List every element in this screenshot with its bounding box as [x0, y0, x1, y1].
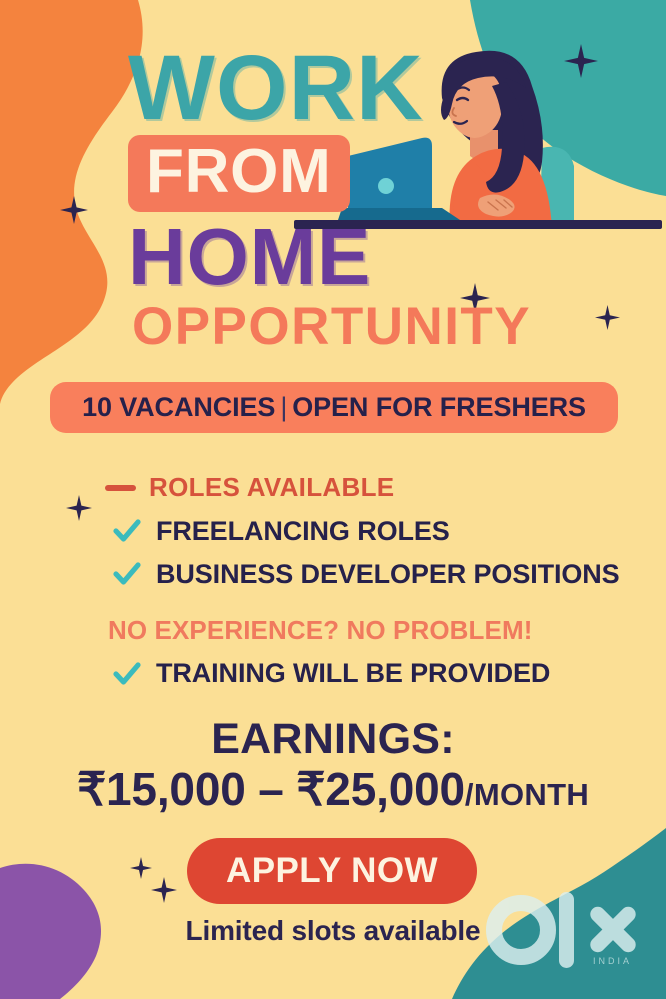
list-item-label: BUSINESS DEVELOPER POSITIONS	[156, 559, 620, 590]
vacancy-banner-text: 10 VACANCIES|OPEN FOR FRESHERS	[82, 392, 586, 423]
list-item: FREELANCING ROLES	[112, 512, 632, 550]
olx-o-letter	[494, 903, 548, 957]
poster-canvas: WORK FROM HOME OPPORTUNITY 10 VACANCIES|…	[0, 0, 666, 999]
list-item: BUSINESS DEVELOPER POSITIONS	[112, 555, 632, 593]
earnings-amount-row: ₹15,000 – ₹25,000/MONTH	[0, 765, 666, 815]
check-icon	[112, 559, 142, 589]
dash-icon	[105, 485, 136, 491]
earnings-period: /MONTH	[465, 777, 589, 812]
apply-now-button[interactable]: APPLY NOW	[187, 838, 477, 904]
headline-work: WORK	[0, 46, 666, 131]
vacancy-separator: |	[275, 392, 292, 422]
headline-from-wrapper: FROM	[0, 135, 666, 212]
olx-watermark-logo: INDIA	[481, 882, 656, 977]
vacancy-freshers: OPEN FOR FRESHERS	[292, 392, 586, 422]
apply-now-label: APPLY NOW	[226, 851, 438, 891]
check-icon	[112, 516, 142, 546]
olx-l-letter	[559, 892, 574, 968]
vacancy-count: 10 VACANCIES	[82, 392, 275, 422]
earnings-label: EARNINGS:	[0, 718, 666, 761]
training-label: TRAINING WILL BE PROVIDED	[156, 658, 550, 689]
headline-from-badge: FROM	[128, 135, 350, 212]
earnings-block: EARNINGS: ₹15,000 – ₹25,000/MONTH	[0, 718, 666, 815]
roles-available-heading: ROLES AVAILABLE	[105, 472, 394, 503]
no-experience-text: NO EXPERIENCE? NO PROBLEM!	[108, 615, 533, 646]
headline-opportunity: OPPORTUNITY	[0, 300, 666, 353]
headline-home: HOME	[0, 218, 666, 296]
check-icon	[112, 659, 142, 689]
olx-sub-label: INDIA	[593, 956, 632, 966]
vacancy-banner: 10 VACANCIES|OPEN FOR FRESHERS	[50, 382, 618, 433]
training-row: TRAINING WILL BE PROVIDED	[112, 658, 550, 689]
roles-available-label: ROLES AVAILABLE	[149, 472, 394, 503]
list-item-label: FREELANCING ROLES	[156, 516, 450, 547]
olx-x-letter	[587, 904, 639, 956]
earnings-amount: ₹15,000 – ₹25,000	[77, 763, 465, 815]
roles-list: FREELANCING ROLES BUSINESS DEVELOPER POS…	[112, 512, 632, 598]
headline-block: WORK FROM HOME OPPORTUNITY	[0, 46, 666, 353]
